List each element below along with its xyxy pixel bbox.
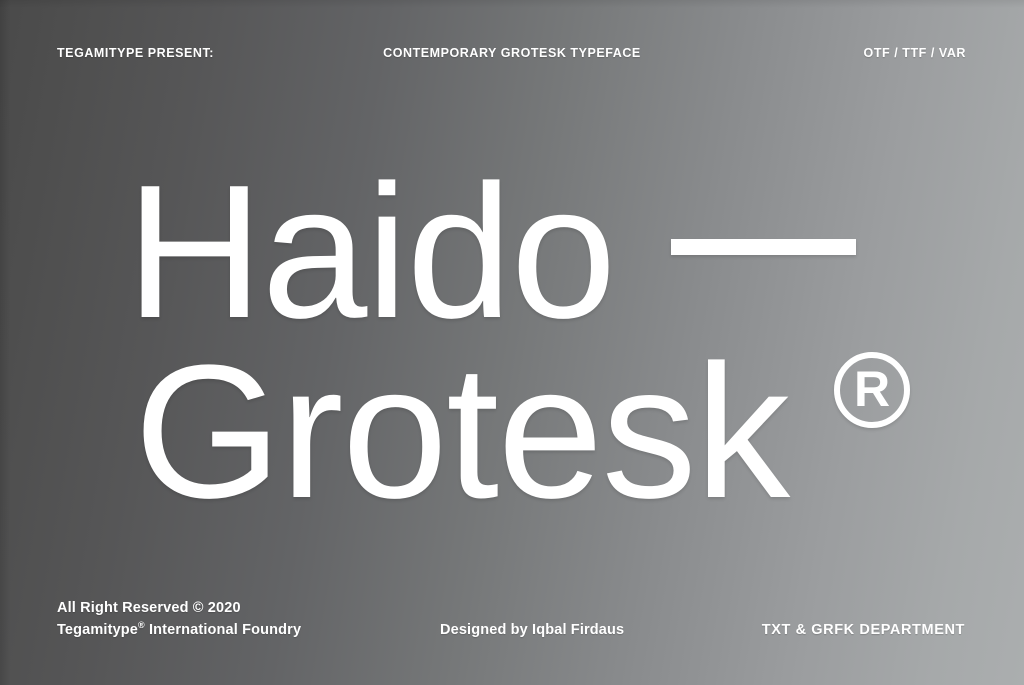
poster-headline: Haido Grotesk R: [0, 0, 1024, 685]
footer-department-block: TXT & GRFK DEPARTMENT: [762, 619, 965, 641]
footer-rights-line: All Right Reserved © 2020: [57, 597, 301, 619]
footer-designer-credit: Designed by Iqbal Firdaus: [440, 619, 624, 641]
poster-header: TEGAMITYPE PRESENT: CONTEMPORARY GROTESK…: [0, 43, 1024, 63]
footer-foundry-registered-mark: ®: [138, 620, 145, 630]
footer-designer-block: Designed by Iqbal Firdaus: [440, 619, 624, 641]
header-formats-label: OTF / TTF / VAR: [864, 43, 966, 63]
footer-department-label: TXT & GRFK DEPARTMENT: [762, 619, 965, 641]
header-foundry-label: TEGAMITYPE PRESENT:: [57, 43, 214, 63]
registered-trademark-letter: R: [854, 364, 890, 414]
left-vignette-overlay: [0, 0, 10, 685]
font-specimen-poster: TEGAMITYPE PRESENT: CONTEMPORARY GROTESK…: [0, 0, 1024, 685]
top-vignette-overlay: [0, 0, 1024, 8]
poster-footer: All Right Reserved © 2020 Tegamitype® In…: [0, 597, 1024, 641]
headline-line-two: Grotesk: [134, 337, 789, 527]
registered-trademark-icon: R: [834, 352, 910, 428]
headline-dash-rule: [671, 239, 856, 255]
footer-foundry-line: Tegamitype® International Foundry: [57, 619, 301, 641]
header-tagline: CONTEMPORARY GROTESK TYPEFACE: [383, 43, 641, 63]
footer-copyright-block: All Right Reserved © 2020 Tegamitype® In…: [57, 597, 301, 641]
footer-foundry-name: Tegamitype: [57, 622, 138, 638]
footer-foundry-suffix: International Foundry: [145, 622, 301, 638]
headline-line-one: Haido: [126, 157, 615, 347]
